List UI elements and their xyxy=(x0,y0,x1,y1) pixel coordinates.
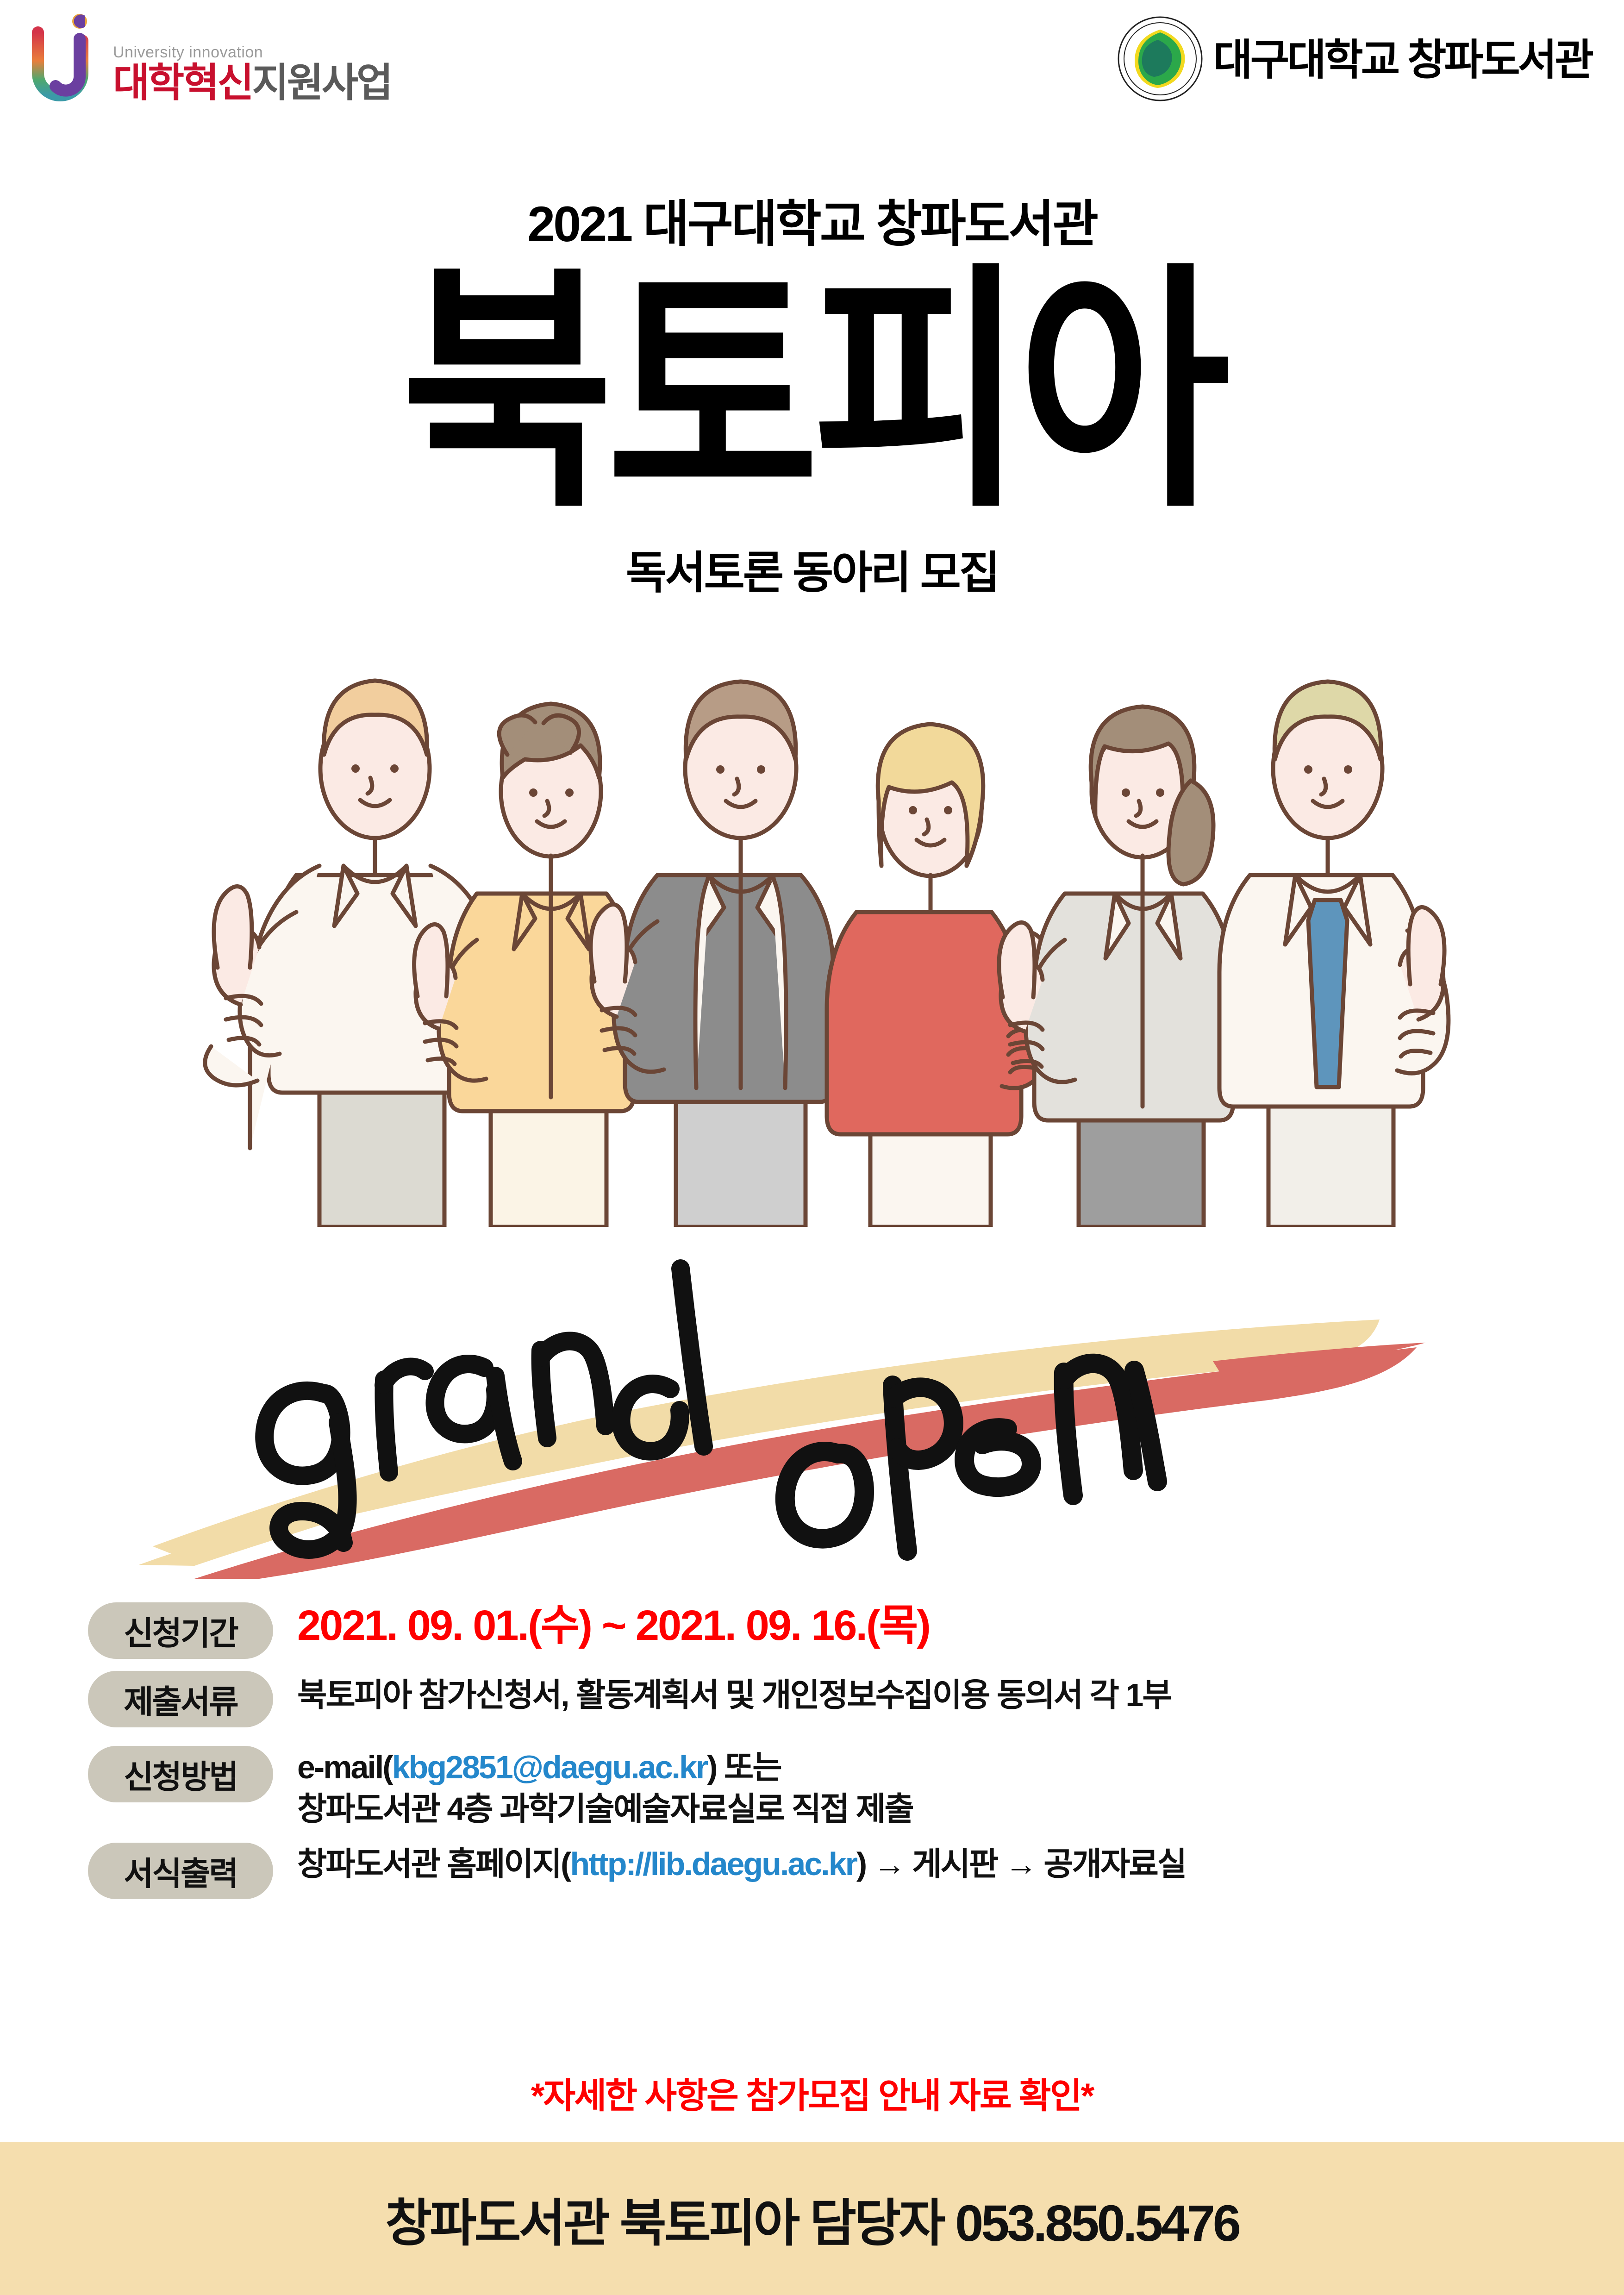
email-link[interactable]: kbg2851@daegu.ac.kr xyxy=(392,1749,707,1785)
page-title: 북토피아 xyxy=(0,265,1624,519)
documents-value: 북토피아 참가신청서, 활동계획서 및 개인정보수집이용 동의서 각 1부 xyxy=(297,1675,1171,1716)
university-innovation-logo: University innovation 대학혁신지원사업 xyxy=(28,13,391,106)
ui-logo-english: University innovation xyxy=(113,44,391,60)
title-block: 2021 대구대학교 창파도서관 북토피아 독서토론 동아리 모집 xyxy=(0,199,1624,595)
email-suffix: ) 또는 xyxy=(707,1749,781,1785)
info-value-wrap: 창파도서관 홈페이지(http://lib.daegu.ac.kr) → 게시판… xyxy=(273,1840,1186,1885)
homepage-link[interactable]: http://lib.daegu.ac.kr xyxy=(570,1846,856,1882)
info-row-form-download: 서식출력 창파도서관 홈페이지(http://lib.daegu.ac.kr) … xyxy=(88,1840,1565,1899)
daegu-university-emblem-icon xyxy=(1117,16,1203,104)
grand-open-banner xyxy=(0,1194,1624,1579)
info-value-wrap: 2021. 09. 01.(수) ~ 2021. 09. 16.(목) xyxy=(273,1600,930,1648)
title-eyebrow: 2021 대구대학교 창파도서관 xyxy=(0,199,1624,249)
info-row-how-to-apply: 신청방법 e-mail(kbg2851@daegu.ac.kr) 또는 창파도서… xyxy=(88,1743,1565,1830)
email-prefix: e-mail( xyxy=(297,1749,392,1785)
library-logo: 대구대학교 창파도서관 xyxy=(1117,16,1592,104)
application-period-value: 2021. 09. 01.(수) ~ 2021. 09. 16.(목) xyxy=(297,1603,930,1648)
how-to-apply-line-2: 창파도서관 4층 과학기술예술자료실로 직접 제출 xyxy=(297,1788,913,1830)
six-people-thumbs-up-illustration xyxy=(0,616,1624,1227)
how-to-apply-line-1: e-mail(kbg2851@daegu.ac.kr) 또는 xyxy=(297,1747,913,1788)
info-row-documents: 제출서류 북토피아 참가신청서, 활동계획서 및 개인정보수집이용 동의서 각 … xyxy=(88,1671,1565,1727)
poster-header: University innovation 대학혁신지원사업 대구대학교 창파도… xyxy=(0,0,1624,134)
university-innovation-text: University innovation 대학혁신지원사업 xyxy=(113,44,391,106)
ui-logo-korean-gray: 지원사업 xyxy=(252,61,391,105)
info-label-form-download: 서식출력 xyxy=(88,1843,273,1899)
ui-logo-korean: 대학혁신지원사업 xyxy=(113,63,391,103)
info-table: 신청기간 2021. 09. 01.(수) ~ 2021. 09. 16.(목)… xyxy=(88,1600,1565,1911)
uj-logo-icon xyxy=(28,13,106,106)
title-subtitle: 독서토론 동아리 모집 xyxy=(0,551,1624,595)
info-label-documents: 제출서류 xyxy=(88,1671,273,1727)
ui-logo-korean-red: 대학혁신 xyxy=(113,61,252,105)
detail-note: *자세한 사항은 참가모집 안내 자료 확인* xyxy=(0,2067,1624,2118)
info-value-wrap: e-mail(kbg2851@daegu.ac.kr) 또는 창파도서관 4층 … xyxy=(273,1743,913,1830)
info-value-wrap: 북토피아 참가신청서, 활동계획서 및 개인정보수집이용 동의서 각 1부 xyxy=(273,1671,1171,1716)
form-download-line: 창파도서관 홈페이지(http://lib.daegu.ac.kr) → 게시판… xyxy=(297,1844,1186,1885)
poster-root: University innovation 대학혁신지원사업 대구대학교 창파도… xyxy=(0,0,1624,2295)
poster-footer: 창파도서관 북토피아 담당자 053.850.5476 xyxy=(0,2142,1624,2295)
homepage-suffix: ) → 게시판 → 공개자료실 xyxy=(856,1846,1186,1882)
info-label-application-period: 신청기간 xyxy=(88,1602,273,1659)
library-name: 대구대학교 창파도서관 xyxy=(1213,39,1592,81)
homepage-prefix: 창파도서관 홈페이지( xyxy=(297,1846,570,1882)
info-row-application-period: 신청기간 2021. 09. 01.(수) ~ 2021. 09. 16.(목) xyxy=(88,1600,1565,1659)
info-label-how-to-apply: 신청방법 xyxy=(88,1746,273,1802)
footer-contact: 창파도서관 북토피아 담당자 053.850.5476 xyxy=(385,2182,1239,2256)
